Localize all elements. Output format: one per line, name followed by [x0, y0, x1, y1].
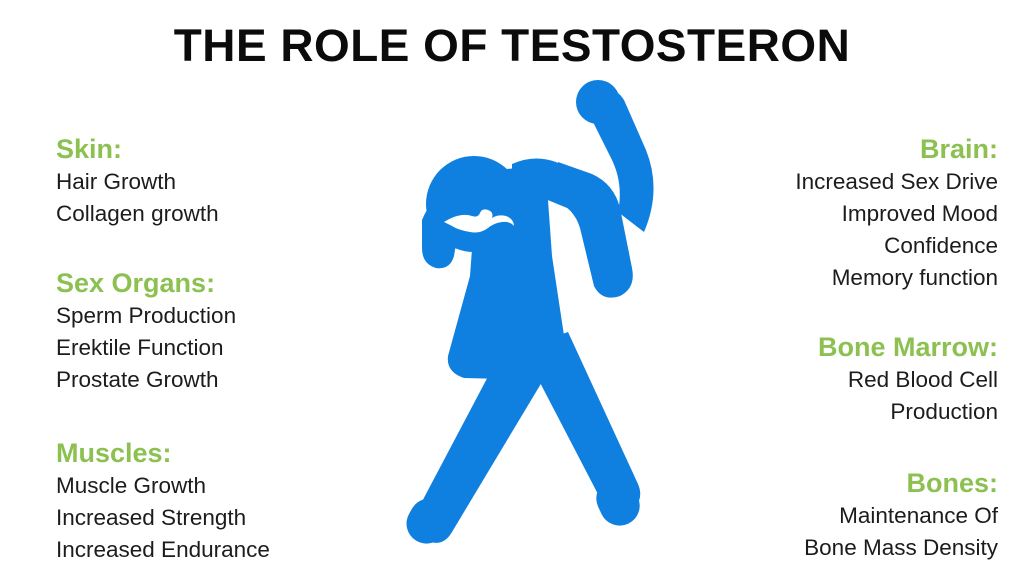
section-skin-heading: Skin: [56, 134, 356, 164]
section-brain: Brain: Increased Sex Drive Improved Mood… [696, 134, 998, 294]
figure-body [399, 80, 653, 551]
section-muscles-item: Increased Strength [56, 502, 356, 534]
section-sex-organs-item: Prostate Growth [56, 364, 356, 396]
section-bones-item: Bone Mass Density [696, 532, 998, 564]
page-title: THE ROLE OF TESTOSTERON [0, 22, 1024, 69]
section-sex-organs-heading: Sex Organs: [56, 268, 356, 298]
section-brain-heading: Brain: [696, 134, 998, 164]
section-sex-organs-item: Erektile Function [56, 332, 356, 364]
section-sex-organs-item: Sperm Production [56, 300, 356, 332]
section-sex-organs: Sex Organs: Sperm Production Erektile Fu… [56, 268, 356, 396]
flexing-man-figure [352, 80, 688, 576]
section-muscles: Muscles: Muscle Growth Increased Strengt… [56, 438, 356, 566]
section-brain-item: Confidence [696, 230, 998, 262]
section-bones-heading: Bones: [696, 468, 998, 498]
figure-head [426, 156, 522, 252]
section-bones-item: Maintenance Of [696, 500, 998, 532]
section-brain-item: Increased Sex Drive [696, 166, 998, 198]
infographic-poster: THE ROLE OF TESTOSTERON Skin: Hair Growt… [0, 0, 1024, 576]
section-muscles-heading: Muscles: [56, 438, 356, 468]
section-bone-marrow-item: Production [696, 396, 998, 428]
section-muscles-item: Muscle Growth [56, 470, 356, 502]
section-brain-item: Improved Mood [696, 198, 998, 230]
section-bone-marrow: Bone Marrow: Red Blood Cell Production [696, 332, 998, 428]
section-brain-item: Memory function [696, 262, 998, 294]
section-bone-marrow-heading: Bone Marrow: [696, 332, 998, 362]
section-bones: Bones: Maintenance Of Bone Mass Density [696, 468, 998, 564]
section-skin-item: Collagen growth [56, 198, 356, 230]
section-skin-item: Hair Growth [56, 166, 356, 198]
section-muscles-item: Increased Endurance [56, 534, 356, 566]
section-skin: Skin: Hair Growth Collagen growth [56, 134, 356, 230]
section-bone-marrow-item: Red Blood Cell [696, 364, 998, 396]
